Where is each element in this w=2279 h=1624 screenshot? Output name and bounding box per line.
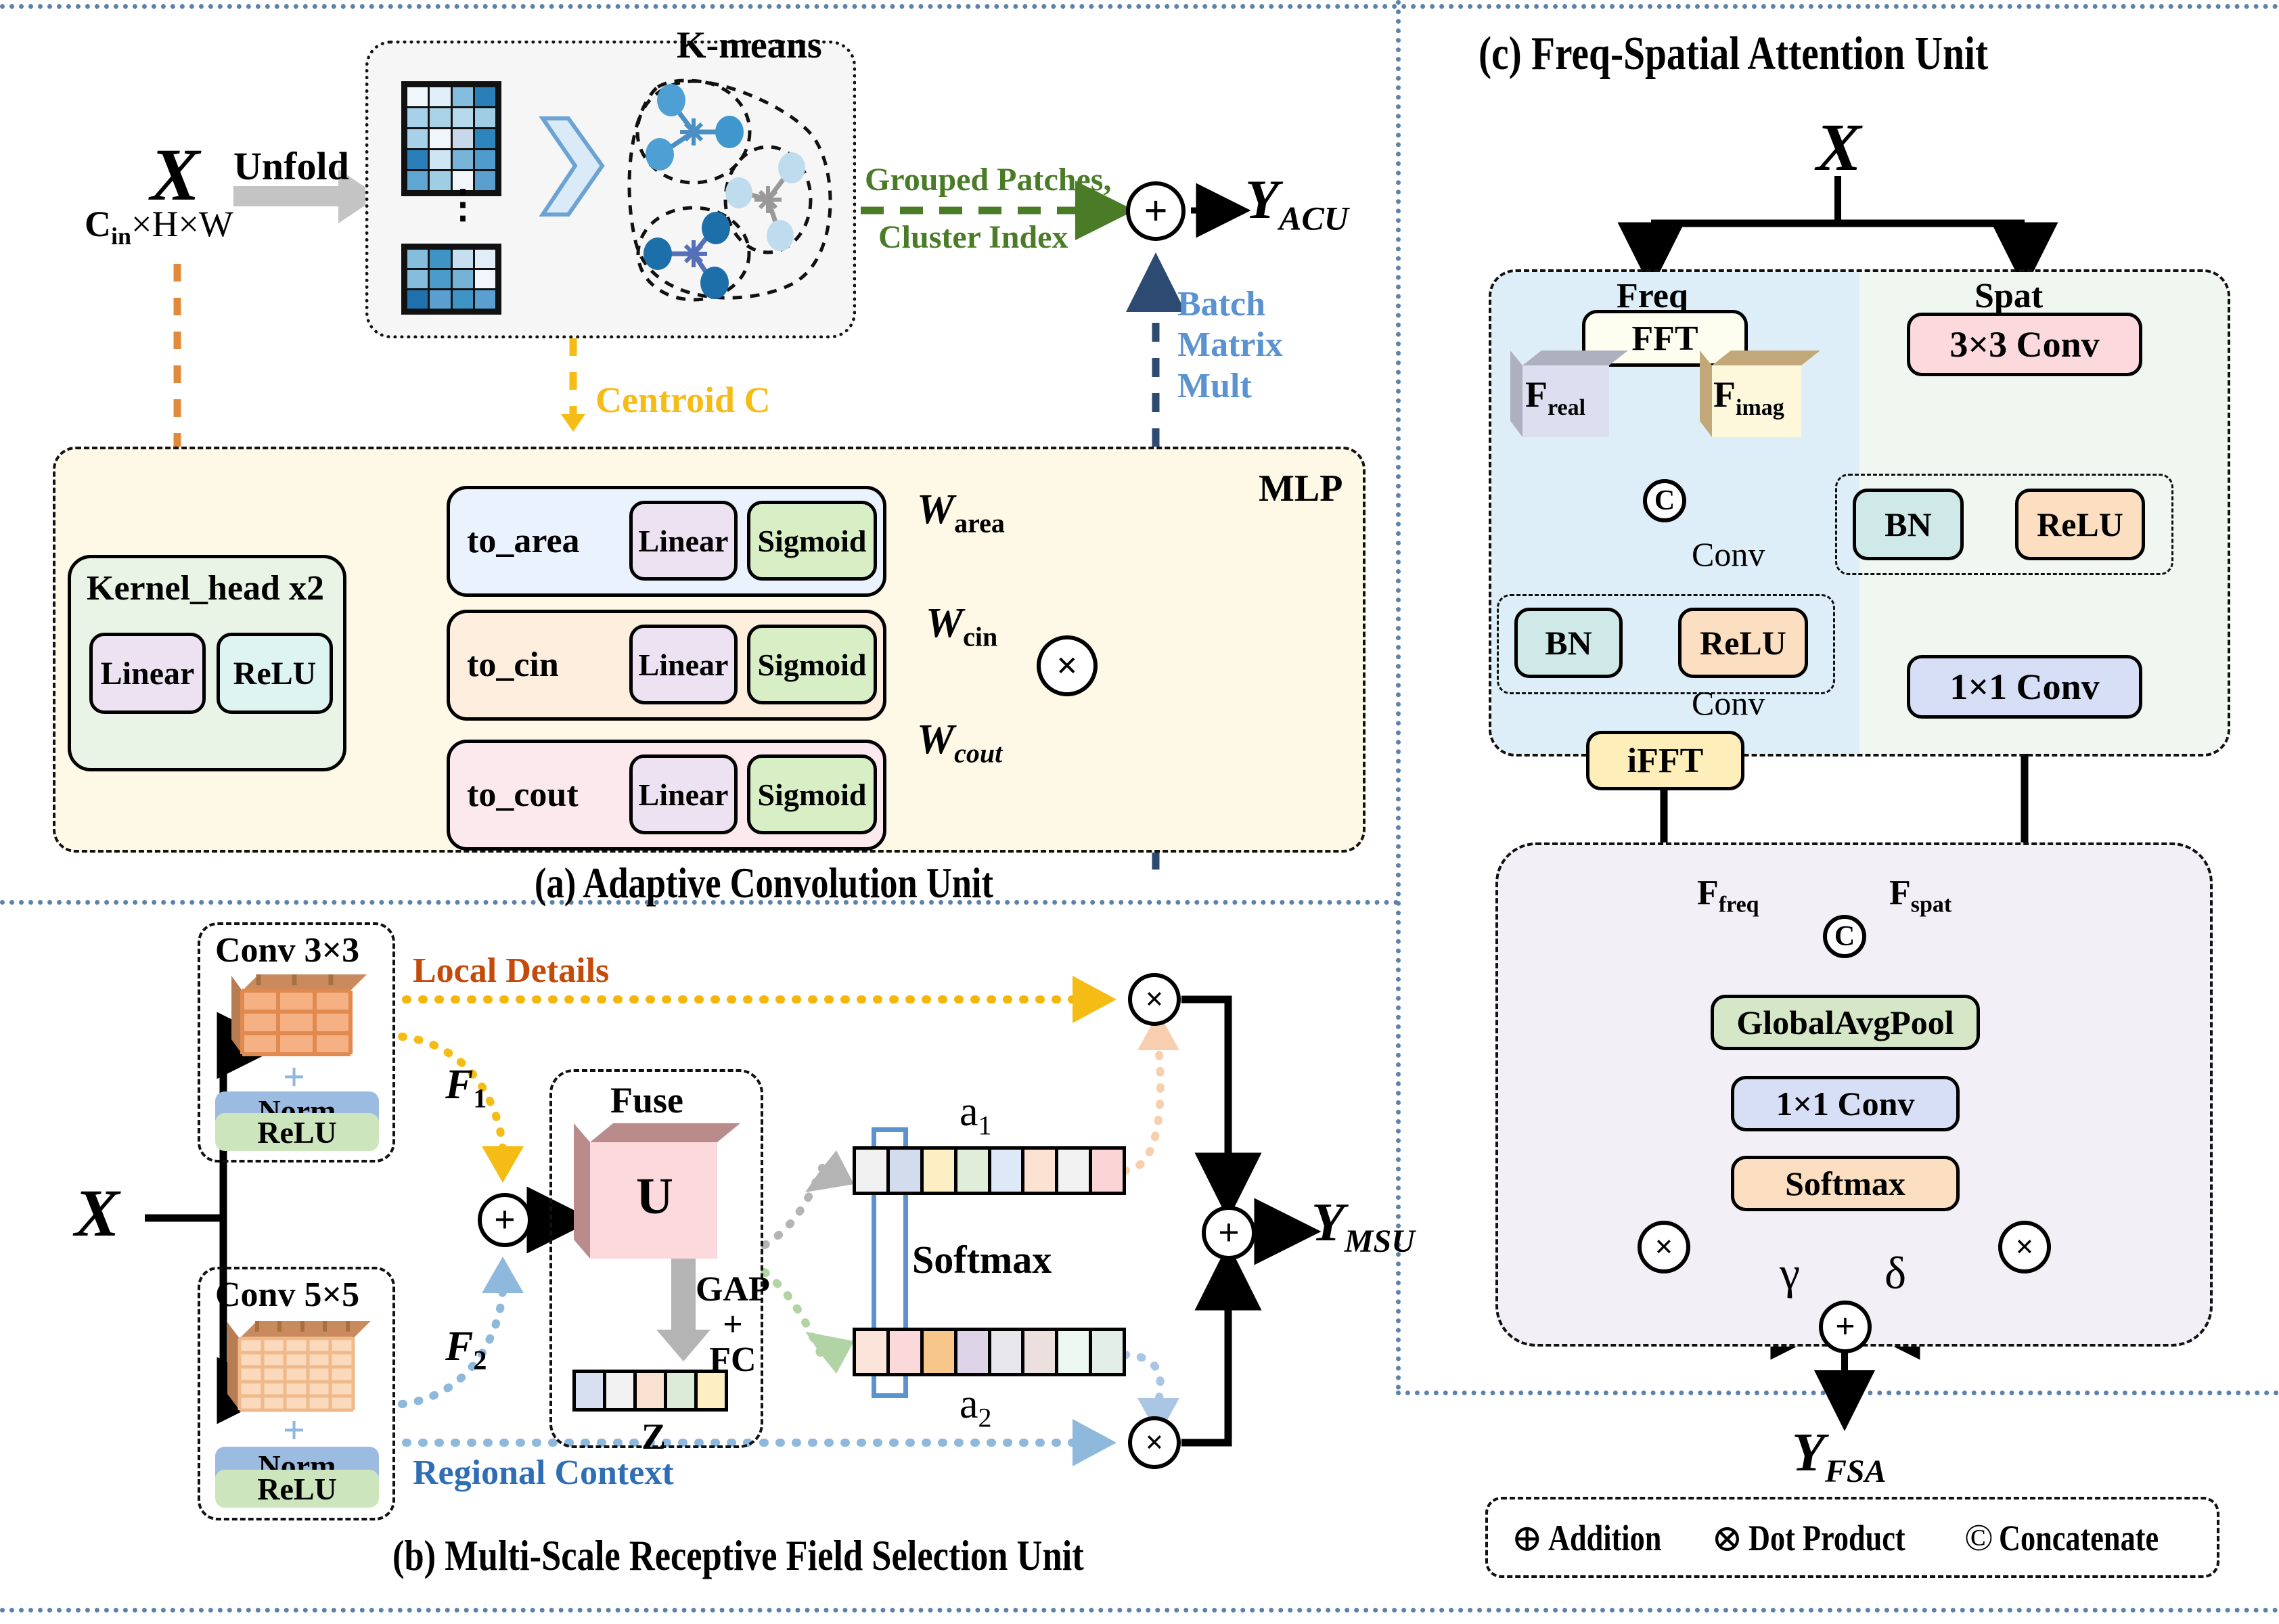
conv3x3-cube-icon xyxy=(231,974,374,1059)
addition-op-acu: + xyxy=(1126,181,1186,241)
regional-context-label: Regional Context xyxy=(413,1453,674,1493)
branch-to-cin-sigmoid[interactable]: Sigmoid xyxy=(747,625,877,704)
freq-relu-label: ReLU xyxy=(1700,623,1786,662)
branch-to-cout-name: to_cout xyxy=(467,775,579,815)
branch-to-cout-linear[interactable]: Linear xyxy=(629,754,738,834)
panel-b-input-symbol: X xyxy=(74,1174,120,1252)
patch-grid-top xyxy=(401,81,501,196)
fft-label: FFT xyxy=(1631,319,1698,359)
branch-to-area-sigmoid-label: Sigmoid xyxy=(757,523,866,559)
legend-label-addition: Addition xyxy=(1548,1517,1661,1559)
dot-product-op-spat: × xyxy=(1998,1221,2051,1273)
legend-item-concatenate: © Concatenate xyxy=(1964,1516,2193,1560)
divider-c-legend xyxy=(1396,1391,2279,1395)
conv3x3-relu[interactable]: ReLU xyxy=(215,1113,379,1151)
fusion-conv11-label: 1×1 Conv xyxy=(1776,1084,1915,1123)
kernel-head-relu-label: ReLU xyxy=(233,655,317,692)
kernel-head-linear-label: Linear xyxy=(101,655,195,692)
conv5x5-relu-label: ReLU xyxy=(257,1471,337,1507)
w-cin-w: W xyxy=(926,600,963,646)
a2-vector xyxy=(853,1328,1126,1376)
f1-sub: 1 xyxy=(473,1083,487,1113)
z-label: Z xyxy=(641,1416,666,1458)
a1-sub: 1 xyxy=(978,1110,992,1140)
w-cout-sub: cout xyxy=(954,738,1002,768)
f-freq-letter: F xyxy=(1697,874,1719,912)
kernel-head-title: Kernel_head x2 xyxy=(87,568,324,608)
patch-grid-bottom xyxy=(401,244,501,315)
branch-to-cout-sigmoid-label: Sigmoid xyxy=(757,777,866,813)
conv3x3-title: Conv 3×3 xyxy=(215,930,359,970)
panel-c-caption: (c) Freq-Spatial Attention Unit xyxy=(1479,27,1988,81)
f2-sub: 2 xyxy=(473,1345,487,1375)
legend-item-addition: ⊕ Addition xyxy=(1511,1516,1686,1560)
addition-op-msu: + xyxy=(1202,1206,1256,1260)
f-imag-sub: imag xyxy=(1736,395,1784,420)
f-freq-sub: freq xyxy=(1719,892,1759,917)
branch-to-area-linear[interactable]: Linear xyxy=(629,501,738,581)
chevron-icon xyxy=(535,112,616,223)
legend-label-dot-product: Dot Product xyxy=(1748,1517,1905,1559)
fsa-y: Y xyxy=(1792,1423,1825,1483)
f-imag-label: Fimag xyxy=(1713,374,1784,421)
fusion-conv11-box[interactable]: 1×1 Conv xyxy=(1731,1076,1960,1131)
delta-label: δ xyxy=(1885,1246,1906,1300)
ifft-box[interactable]: iFFT xyxy=(1586,731,1744,790)
branch-to-cin-name: to_cin xyxy=(467,645,559,685)
a2-label: a2 xyxy=(960,1380,992,1433)
bmm-line-1: Batch xyxy=(1177,284,1283,325)
f-freq-label: Ffreq xyxy=(1697,873,1759,918)
spat-bn-label: BN xyxy=(1885,505,1931,544)
addition-op-msu-merge: + xyxy=(478,1193,532,1247)
bmm-line-2: Matrix xyxy=(1177,325,1283,365)
spat-conv33-box[interactable]: 3×3 Conv xyxy=(1907,313,2142,376)
conv3x3-relu-label: ReLU xyxy=(257,1114,337,1150)
branch-to-cin-linear[interactable]: Linear xyxy=(629,625,738,704)
panel-c-output: YFSA xyxy=(1792,1422,1887,1490)
dot-product-op-mlp: × xyxy=(1037,635,1098,696)
spat-bn-box[interactable]: BN xyxy=(1853,489,1964,560)
batch-matrix-mult-label: Batch Matrix Mult xyxy=(1177,284,1283,407)
w-cin-sub: cin xyxy=(963,621,997,652)
bmm-line-3: Mult xyxy=(1177,366,1283,407)
dot-product-op-msu-bottom: × xyxy=(1128,1416,1181,1469)
kmeans-title: K-means xyxy=(677,24,822,67)
legend-label-concatenate: Concatenate xyxy=(1999,1517,2159,1559)
fusion-softmax-label: Softmax xyxy=(1785,1164,1905,1203)
gap-plus: + xyxy=(696,1307,770,1343)
w-cout-w: W xyxy=(917,717,954,763)
msu-sub: MSU xyxy=(1345,1223,1415,1259)
f-spat-sub: spat xyxy=(1911,892,1951,917)
a2-sub: 2 xyxy=(978,1402,992,1433)
f1-letter: F xyxy=(445,1062,473,1108)
spat-title: Spat xyxy=(1975,276,2043,316)
freq-bn-label: BN xyxy=(1545,623,1592,662)
freq-relu-box[interactable]: ReLU xyxy=(1678,608,1808,678)
spat-relu-label: ReLU xyxy=(2037,505,2123,544)
legend-items: ⊕ Addition ⊗ Dot Product © Concatenate xyxy=(1499,1510,2206,1566)
output-y: Y xyxy=(1245,168,1279,230)
divider-top xyxy=(0,4,2279,9)
spat-conv33-label: 3×3 Conv xyxy=(1949,323,2099,365)
fuse-gap-label: GAP + FC xyxy=(696,1272,770,1378)
f-imag-letter: F xyxy=(1713,374,1736,415)
panel-b-output: YMSU xyxy=(1311,1192,1415,1260)
dot-product-op-freq: × xyxy=(1638,1221,1690,1273)
concatenate-op-fusion: C xyxy=(1823,915,1866,958)
fuse-cube-label: U xyxy=(636,1167,673,1226)
a1-letter: a xyxy=(960,1089,978,1135)
dot-product-op-msu-top: × xyxy=(1128,973,1181,1026)
panel-c-input-symbol: X xyxy=(1816,108,1861,186)
panel-a-input-shape: Cin×H×W xyxy=(85,203,233,250)
freq-conv2-label: Conv xyxy=(1692,683,1765,723)
conv5x5-relu[interactable]: ReLU xyxy=(215,1470,379,1508)
addition-op-fsa: + xyxy=(1819,1301,1872,1353)
concatenate-icon: © xyxy=(1964,1516,1993,1560)
kernel-head-relu[interactable]: ReLU xyxy=(217,633,333,714)
addition-icon: ⊕ xyxy=(1511,1516,1543,1560)
dot-product-icon: ⊗ xyxy=(1711,1516,1743,1560)
legend-item-dot-product: ⊗ Dot Product xyxy=(1711,1516,1939,1560)
weight-cout-label: Wcout xyxy=(917,716,1002,769)
divider-bottom xyxy=(0,1608,2279,1612)
panel-b-caption: (b) Multi-Scale Receptive Field Selectio… xyxy=(392,1531,1084,1581)
f-spat-letter: F xyxy=(1889,874,1911,912)
branch-to-cin-linear-label: Linear xyxy=(639,647,729,683)
spat-conv11-label: 1×1 Conv xyxy=(1949,666,2099,708)
panel-a-output: YACU xyxy=(1245,168,1349,238)
centroid-label: Centroid C xyxy=(595,379,771,421)
patch-ellipsis: ⋮ xyxy=(443,196,482,212)
concatenate-op-freq: C xyxy=(1643,479,1686,522)
f-real-letter: F xyxy=(1525,374,1548,415)
fusion-softmax-box[interactable]: Softmax xyxy=(1731,1156,1960,1211)
conv5x5-title: Conv 5×5 xyxy=(215,1275,359,1315)
freq-bn-box[interactable]: BN xyxy=(1514,608,1623,678)
branch-to-area-linear-label: Linear xyxy=(639,523,729,559)
conv5x5-plus: + xyxy=(283,1407,305,1453)
spat-relu-box[interactable]: ReLU xyxy=(2015,489,2145,560)
branch-to-cout-linear-label: Linear xyxy=(639,777,729,813)
branch-to-cout-sigmoid[interactable]: Sigmoid xyxy=(747,754,877,834)
conv5x5-cube-icon xyxy=(227,1321,376,1416)
w-area-w: W xyxy=(917,487,954,533)
f2-letter: F xyxy=(445,1324,473,1370)
ifft-label: iFFT xyxy=(1627,741,1704,781)
mlp-label: MLP xyxy=(1259,467,1342,510)
grouped-patches-label-line2: Cluster Index xyxy=(878,219,1068,256)
softmax-label-b: Softmax xyxy=(912,1237,1052,1282)
kmeans-clusters xyxy=(623,68,846,311)
input-shape-sub: in xyxy=(111,223,131,250)
input-shape-c: C xyxy=(85,204,111,244)
panel-a-caption: (a) Adaptive Convolution Unit xyxy=(535,858,993,908)
grouped-patches-label-line1: Grouped Patches, xyxy=(865,161,1111,198)
f2-label: F2 xyxy=(445,1323,487,1376)
kernel-head-linear[interactable]: Linear xyxy=(89,633,206,714)
a2-letter: a xyxy=(960,1381,978,1427)
global-avg-pool-box[interactable]: GlobalAvgPool xyxy=(1711,995,1980,1050)
fsa-sub: FSA xyxy=(1825,1453,1887,1489)
unfold-label: Unfold xyxy=(233,143,349,189)
branch-to-area-sigmoid[interactable]: Sigmoid xyxy=(747,501,877,581)
msu-y: Y xyxy=(1311,1193,1345,1253)
gap-text: GAP xyxy=(696,1272,770,1307)
gamma-label: γ xyxy=(1780,1246,1800,1300)
weight-cin-label: Wcin xyxy=(926,600,997,652)
spat-conv11-box[interactable]: 1×1 Conv xyxy=(1907,655,2142,719)
a1-label: a1 xyxy=(960,1088,992,1141)
z-vector xyxy=(572,1370,728,1412)
output-sub: ACU xyxy=(1279,199,1349,237)
w-area-sub: area xyxy=(954,507,1005,538)
local-details-label: Local Details xyxy=(413,951,609,991)
input-shape-rest: ×H×W xyxy=(131,204,233,244)
f-spat-label: Fspat xyxy=(1889,873,1951,918)
f1-label: F1 xyxy=(445,1061,487,1114)
global-avg-pool-label: GlobalAvgPool xyxy=(1736,1003,1954,1042)
weight-area-label: Warea xyxy=(917,486,1005,539)
a1-vector xyxy=(853,1146,1126,1195)
fuse-title: Fuse xyxy=(610,1079,683,1121)
f-real-sub: real xyxy=(1548,395,1585,420)
f-real-label: Freal xyxy=(1525,374,1585,421)
freq-conv1-label: Conv xyxy=(1692,535,1765,574)
branch-to-area-name: to_area xyxy=(467,521,580,561)
branch-to-cin-sigmoid-label: Sigmoid xyxy=(757,647,866,683)
divider-vertical-main xyxy=(1396,0,1401,1391)
